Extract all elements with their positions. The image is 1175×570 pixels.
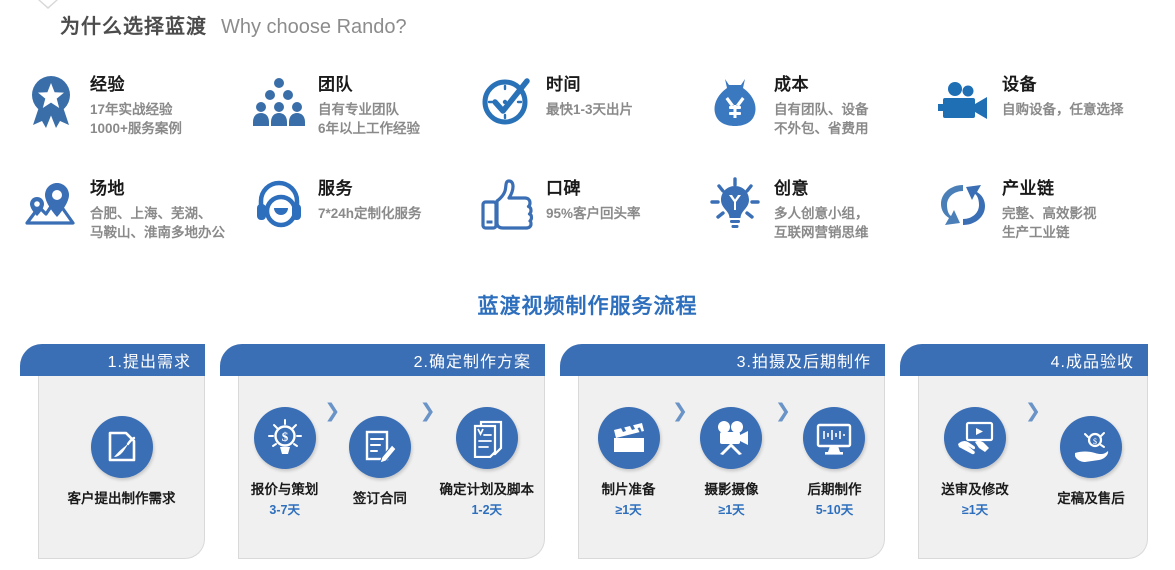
feature-text: 场地 合肥、上海、芜湖、 马鞍山、淮南多地办公 (90, 174, 225, 242)
feature-desc: 自有团队、设备 不外包、省费用 (774, 100, 869, 138)
page-title-cn: 为什么选择蓝渡 (60, 10, 207, 39)
monitor-edit-icon (803, 407, 865, 469)
team-people-icon (250, 72, 308, 130)
feature-item: 口碑 95%客户回头率 (478, 174, 706, 278)
process-step-label: 确定计划及脚本 (440, 481, 535, 499)
feature-text: 团队 自有专业团队 6年以上工作经验 (318, 70, 420, 138)
page-title: 为什么选择蓝渡 Why choose Rando? (60, 10, 407, 39)
feature-desc: 17年实战经验 1000+服务案例 (90, 100, 182, 138)
process-step-days: 3-7天 (269, 501, 300, 519)
process-step: 制片准备 ≥1天 (589, 407, 668, 519)
process-step-days: ≥1天 (718, 501, 744, 519)
process-step-days: ≥1天 (962, 501, 988, 519)
process-step: 摄影摄像 ≥1天 (692, 407, 771, 519)
process-card-header: 4.成品验收 (900, 344, 1148, 376)
process-section-title: 蓝渡视频制作服务流程 (0, 290, 1175, 320)
feature-title: 服务 (318, 178, 422, 200)
top-strip (0, 0, 1175, 8)
movie-camera-icon (700, 407, 762, 469)
chevron-right-icon: ❯ (420, 400, 436, 423)
lightbulb-idea-icon (706, 176, 764, 234)
feature-desc: 最快1-3天出片 (546, 100, 633, 119)
feature-text: 产业链 完整、高效影视 生产工业链 (1002, 174, 1097, 242)
clapperboard-icon (598, 407, 660, 469)
money-bag-yuan-icon (706, 72, 764, 130)
process-step-label: 送审及修改 (941, 481, 1009, 499)
feature-text: 经验 17年实战经验 1000+服务案例 (90, 70, 182, 138)
process-step: 后期制作 5-10天 (795, 407, 874, 519)
contract-sign-icon (349, 416, 411, 478)
process-step: $ 报价与策划 3-7天 (249, 407, 320, 519)
headset-support-icon (250, 176, 308, 234)
document-pen-icon (91, 416, 153, 478)
feature-desc: 95%客户回头率 (546, 204, 641, 223)
process-card: 3.拍摄及后期制作 (560, 344, 885, 559)
feature-desc: 完整、高效影视 生产工业链 (1002, 204, 1097, 242)
feature-item: 经验 17年实战经验 1000+服务案例 (22, 70, 250, 174)
thumbs-up-icon (478, 176, 536, 234)
features-grid: 经验 17年实战经验 1000+服务案例 团 (22, 70, 1162, 278)
process-step: 客户提出制作需求 (63, 416, 181, 510)
feature-item: 成本 自有团队、设备 不外包、省费用 (706, 70, 934, 174)
feature-item: 创意 多人创意小组， 互联网营销思维 (706, 174, 934, 278)
process-step-label: 制片准备 (602, 481, 656, 499)
process-card-header: 2.确定制作方案 (220, 344, 545, 376)
feature-title: 时间 (546, 74, 633, 96)
feature-desc: 7*24h定制化服务 (318, 204, 422, 223)
feature-title: 设备 (1002, 74, 1124, 96)
feature-title: 经验 (90, 74, 182, 96)
page-title-en: Why choose Rando? (221, 16, 407, 39)
feature-text: 服务 7*24h定制化服务 (318, 174, 422, 223)
top-notch-inner-icon (40, 0, 56, 7)
process-step-days: 5-10天 (816, 501, 854, 519)
feature-title: 产业链 (1002, 178, 1097, 200)
feature-desc: 合肥、上海、芜湖、 马鞍山、淮南多地办公 (90, 204, 225, 242)
clock-check-icon (478, 72, 536, 130)
process-step-days: 1-2天 (471, 501, 502, 519)
process-step-label: 报价与策划 (251, 481, 319, 499)
process-card-header-label: 1.提出需求 (108, 348, 191, 372)
page-root: 为什么选择蓝渡 Why choose Rando? 经验 17年实战经验 100… (0, 0, 1175, 570)
process-step: 确定计划及脚本 1-2天 (440, 407, 535, 519)
chevron-right-icon: ❯ (672, 400, 688, 423)
process-step-label: 摄影摄像 (704, 481, 758, 499)
process-card-body: 制片准备 ≥1天 ❯ (578, 376, 885, 559)
feature-desc: 自购设备，任意选择 (1002, 100, 1124, 119)
process-card-header: 3.拍摄及后期制作 (560, 344, 885, 376)
process-step: 签订合同 (344, 416, 415, 510)
chevron-right-icon: ❯ (1025, 400, 1041, 423)
process-step-label: 签订合同 (353, 490, 407, 508)
handshake-screen-icon (944, 407, 1006, 469)
process-card-header-label: 2.确定制作方案 (414, 348, 531, 372)
process-card: 2.确定制作方案 (220, 344, 545, 559)
svg-text:$: $ (1093, 437, 1097, 446)
process-card-header: 1.提出需求 (20, 344, 205, 376)
bulb-dollar-icon: $ (254, 407, 316, 469)
feature-item: 场地 合肥、上海、芜湖、 马鞍山、淮南多地办公 (22, 174, 250, 278)
process-card: 1.提出需求 客户提出制作需求 (20, 344, 205, 559)
feature-item: 产业链 完整、高效影视 生产工业链 (934, 174, 1162, 278)
feature-title: 场地 (90, 178, 225, 200)
process-step-label: 定稿及售后 (1057, 490, 1125, 508)
process-step-days: ≥1天 (615, 501, 641, 519)
process-card: 4.成品验收 送审及修改 ≥1天 ❯ (900, 344, 1148, 559)
process-cards: 1.提出需求 客户提出制作需求 (20, 344, 1148, 559)
video-camera-icon (934, 72, 992, 130)
script-pages-icon (456, 407, 518, 469)
chevron-right-icon: ❯ (775, 400, 791, 423)
feature-title: 成本 (774, 74, 869, 96)
map-location-pin-icon (22, 176, 80, 234)
feature-item: 时间 最快1-3天出片 (478, 70, 706, 174)
feature-title: 口碑 (546, 178, 641, 200)
feature-title: 创意 (774, 178, 869, 200)
process-step-label: 后期制作 (807, 481, 861, 499)
process-card-header-label: 3.拍摄及后期制作 (737, 348, 871, 372)
feature-item: 服务 7*24h定制化服务 (250, 174, 478, 278)
process-step: 送审及修改 ≥1天 (929, 407, 1021, 519)
process-step-label: 客户提出制作需求 (68, 490, 176, 508)
process-card-body: $ 报价与策划 3-7天 ❯ (238, 376, 545, 559)
chevron-right-icon: ❯ (324, 400, 340, 423)
feature-text: 成本 自有团队、设备 不外包、省费用 (774, 70, 869, 138)
ribbon-star-icon (22, 72, 80, 130)
recycle-arrows-icon (934, 176, 992, 234)
feature-text: 创意 多人创意小组， 互联网营销思维 (774, 174, 869, 242)
feature-text: 口碑 95%客户回头率 (546, 174, 641, 223)
feature-desc: 多人创意小组， 互联网营销思维 (774, 204, 869, 242)
feature-text: 时间 最快1-3天出片 (546, 70, 633, 119)
process-card-body: 客户提出制作需求 (38, 376, 205, 559)
feature-text: 设备 自购设备，任意选择 (1002, 70, 1124, 119)
feature-desc: 自有专业团队 6年以上工作经验 (318, 100, 420, 138)
svg-text:$: $ (281, 429, 288, 444)
hand-delivery-icon: $ (1060, 416, 1122, 478)
feature-title: 团队 (318, 74, 420, 96)
process-card-body: 送审及修改 ≥1天 ❯ $ (918, 376, 1148, 559)
feature-item: 团队 自有专业团队 6年以上工作经验 (250, 70, 478, 174)
feature-item: 设备 自购设备，任意选择 (934, 70, 1162, 174)
process-step: $ 定稿及售后 (1045, 416, 1137, 510)
process-card-header-label: 4.成品验收 (1051, 348, 1134, 372)
